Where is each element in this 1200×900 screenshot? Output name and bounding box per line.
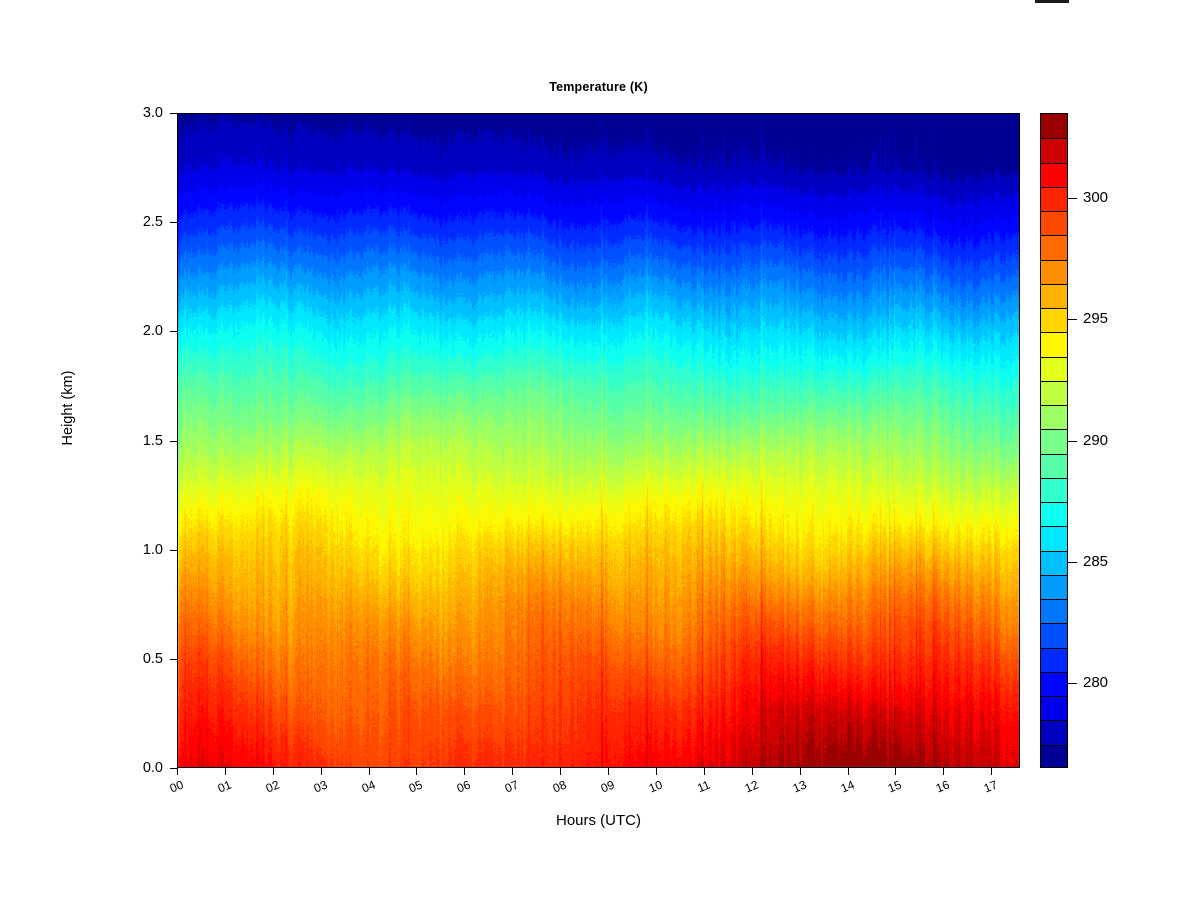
y-tick-mark (170, 331, 177, 332)
x-tick-mark (512, 768, 513, 775)
colorbar-block (1041, 575, 1067, 599)
y-tick-label: 1.5 (117, 434, 163, 448)
colorbar-block (1041, 260, 1067, 284)
colorbar-tick-label: 295 (1083, 311, 1108, 326)
x-tick-label: 01 (208, 774, 241, 798)
figure-canvas: Temperature (K) 0.00.51.01.52.02.53.0 He… (0, 0, 1200, 900)
colorbar-block (1041, 745, 1067, 769)
colorbar-block (1041, 284, 1067, 308)
colorbar-block (1041, 308, 1067, 332)
colorbar-block (1041, 381, 1067, 405)
colorbar-tick-label: 300 (1083, 190, 1108, 205)
x-tick-mark (464, 768, 465, 775)
x-tick-label: 13 (783, 774, 816, 798)
x-tick-mark (321, 768, 322, 775)
x-tick-label: 16 (926, 774, 959, 798)
colorbar-block (1041, 526, 1067, 550)
y-axis-title: Height (km) (60, 328, 76, 488)
colorbar-tick-mark (1068, 441, 1077, 442)
x-tick-mark (273, 768, 274, 775)
x-tick-label: 14 (831, 774, 864, 798)
y-tick-mark (170, 659, 177, 660)
x-tick-label: 12 (735, 774, 768, 798)
y-tick-label: 1.0 (117, 543, 163, 557)
colorbar-block (1041, 211, 1067, 235)
top-right-artifact-bar (1035, 0, 1069, 3)
colorbar-block (1041, 599, 1067, 623)
colorbar-block (1041, 357, 1067, 381)
y-tick-label: 0.5 (117, 652, 163, 666)
colorbar-tick-mark (1068, 683, 1077, 684)
x-tick-mark (656, 768, 657, 775)
x-tick-mark (608, 768, 609, 775)
colorbar-block (1041, 720, 1067, 744)
colorbar-block (1041, 478, 1067, 502)
colorbar-block (1041, 332, 1067, 356)
y-tick-mark (170, 441, 177, 442)
x-tick-label: 08 (543, 774, 576, 798)
x-tick-label: 04 (352, 774, 385, 798)
x-tick-label: 02 (256, 774, 289, 798)
y-tick-mark (170, 222, 177, 223)
colorbar-block (1041, 454, 1067, 478)
x-tick-label: 10 (639, 774, 672, 798)
x-tick-label: 15 (878, 774, 911, 798)
x-tick-label: 07 (495, 774, 528, 798)
heatmap-image (178, 114, 1019, 767)
x-tick-mark (991, 768, 992, 775)
colorbar-block (1041, 502, 1067, 526)
x-tick-mark (369, 768, 370, 775)
x-tick-label: 00 (160, 774, 193, 798)
colorbar-block (1041, 672, 1067, 696)
colorbar-block (1041, 138, 1067, 162)
x-tick-mark (895, 768, 896, 775)
colorbar-block (1041, 235, 1067, 259)
y-tick-label: 0.0 (117, 761, 163, 775)
colorbar-block (1041, 187, 1067, 211)
colorbar-block (1041, 648, 1067, 672)
x-tick-mark (943, 768, 944, 775)
x-tick-label: 03 (304, 774, 337, 798)
x-tick-label: 05 (399, 774, 432, 798)
x-tick-label: 09 (591, 774, 624, 798)
x-tick-mark (177, 768, 178, 775)
colorbar-tick-label: 280 (1083, 675, 1108, 690)
x-tick-mark (800, 768, 801, 775)
y-tick-mark (170, 113, 177, 114)
x-tick-mark (560, 768, 561, 775)
y-tick-label: 2.5 (117, 215, 163, 229)
x-tick-mark (848, 768, 849, 775)
colorbar-block (1041, 429, 1067, 453)
x-tick-label: 06 (447, 774, 480, 798)
y-tick-mark (170, 768, 177, 769)
colorbar-block (1041, 623, 1067, 647)
colorbar-block (1041, 405, 1067, 429)
heatmap-plot-area (177, 113, 1020, 768)
colorbar-tick-mark (1068, 319, 1077, 320)
colorbar-tick-mark (1068, 198, 1077, 199)
colorbar-block (1041, 114, 1067, 138)
x-tick-label: 11 (687, 774, 720, 798)
y-tick-label: 3.0 (117, 106, 163, 120)
colorbar-block (1041, 163, 1067, 187)
x-tick-mark (225, 768, 226, 775)
colorbar-tick-mark (1068, 562, 1077, 563)
x-tick-label: 17 (974, 774, 1007, 798)
x-tick-mark (416, 768, 417, 775)
y-tick-label: 2.0 (117, 324, 163, 338)
colorbar-block (1041, 696, 1067, 720)
colorbar-block (1041, 551, 1067, 575)
y-tick-mark (170, 550, 177, 551)
page-title: Temperature (K) (177, 80, 1020, 94)
x-tick-mark (704, 768, 705, 775)
x-tick-mark (752, 768, 753, 775)
colorbar-tick-label: 290 (1083, 433, 1108, 448)
colorbar (1040, 113, 1068, 768)
x-axis-title: Hours (UTC) (177, 812, 1020, 829)
colorbar-tick-label: 285 (1083, 554, 1108, 569)
